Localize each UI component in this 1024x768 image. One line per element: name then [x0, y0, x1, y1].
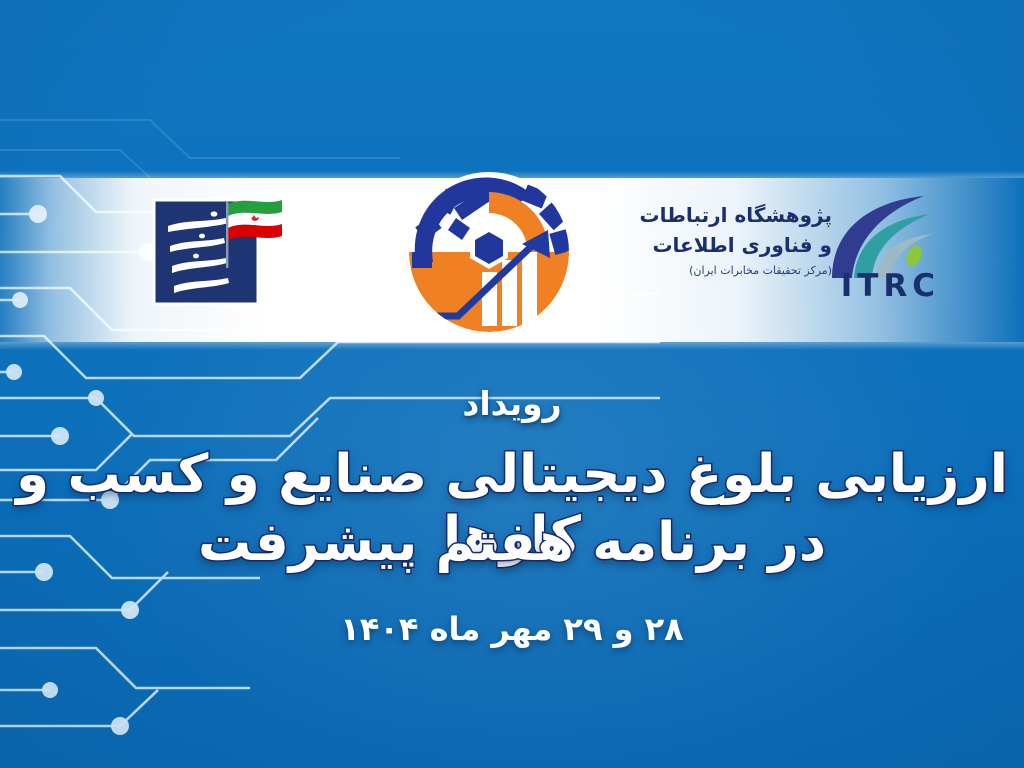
itrc-name-block: پژوهشگاه ارتباطات و فناوری اطلاعات (مرکز…: [640, 200, 832, 280]
itrc-swoosh-icon: [826, 192, 946, 280]
event-kicker: رویداد: [0, 384, 1024, 423]
ministry-ict-emblem-icon: [150, 192, 298, 310]
binary-row-1: 01001011: [396, 254, 412, 272]
center-emblem: 01001011 01010110 10110101: [396, 168, 582, 336]
itrc-name-line-1: پژوهشگاه ارتباطات: [640, 200, 832, 230]
itrc-name-line-2: و فناوری اطلاعات: [640, 230, 832, 260]
binary-row-2: 01010110: [396, 273, 412, 291]
itrc-wordmark: ITRC: [841, 268, 940, 304]
digital-industry-gear-emblem-icon: 01001011 01010110 10110101: [396, 168, 582, 336]
event-headline-line-2: در برنامه هفتم پیشرفت: [0, 512, 1024, 574]
ministry-logo: [0, 178, 148, 296]
binary-row-3: 10110101: [396, 292, 412, 310]
event-date: ۲۸ و ۲۹ مهر ماه ۱۴۰۴: [0, 610, 1024, 648]
header-content: 01001011 01010110 10110101: [0, 178, 1024, 342]
event-poster: 01001011 01010110 10110101: [0, 0, 1024, 768]
itrc-logo: پژوهشگاه ارتباطات و فناوری اطلاعات (مرکز…: [640, 196, 940, 314]
itrc-name-line-3: (مرکز تحقیقات مخابرات ایران): [640, 262, 832, 280]
